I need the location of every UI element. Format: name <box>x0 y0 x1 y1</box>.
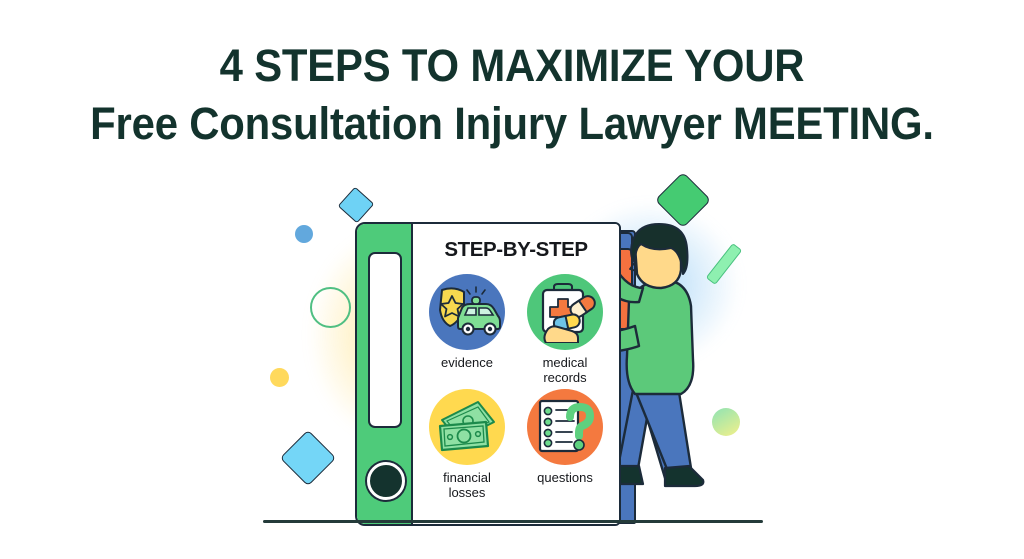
medical-records-label-line1: medical <box>543 355 588 370</box>
step-icon-grid: evidence <box>413 274 619 500</box>
page-title: 4 STEPS TO MAXIMIZE YOUR Free Consultati… <box>0 38 1024 154</box>
medical-records-label-line2: records <box>543 370 586 385</box>
banknotes-icon <box>434 400 500 454</box>
step-item-medical-records: medical records <box>517 274 613 385</box>
poster-canvas: 4 STEPS TO MAXIMIZE YOUR Free Consultati… <box>0 0 1024 559</box>
police-badge-and-car-icon <box>432 282 502 342</box>
financial-losses-icon-circle <box>429 389 505 465</box>
illustration: STEP-BY-STEP <box>255 170 775 540</box>
financial-losses-label: financial losses <box>443 470 491 500</box>
binder-page: STEP-BY-STEP <box>413 224 619 524</box>
step-item-financial-losses: financial losses <box>419 389 515 500</box>
blue-dot-icon <box>295 225 313 243</box>
step-item-questions: questions <box>517 389 613 500</box>
binder: STEP-BY-STEP <box>355 222 621 526</box>
medical-records-label: medical records <box>543 355 588 385</box>
step-by-step-title: STEP-BY-STEP <box>413 238 619 262</box>
green-ring-outline-icon <box>310 287 351 328</box>
medical-kit-and-pills-icon <box>532 281 598 343</box>
binder-finger-ring <box>367 462 405 500</box>
financial-losses-label-line2: losses <box>449 485 486 500</box>
headline-line-1: 4 STEPS TO MAXIMIZE YOUR <box>36 38 988 94</box>
questions-icon-circle <box>527 389 603 465</box>
ground-line <box>263 520 763 523</box>
yellow-dot-icon <box>270 368 289 387</box>
headline-line-2: Free Consultation Injury Lawyer MEETING. <box>36 94 988 154</box>
checklist-question-mark-icon <box>534 397 596 457</box>
binder-spine-label <box>368 252 402 428</box>
medical-records-icon-circle <box>527 274 603 350</box>
evidence-label: evidence <box>441 355 493 370</box>
evidence-icon-circle <box>429 274 505 350</box>
financial-losses-label-line1: financial <box>443 470 491 485</box>
questions-label: questions <box>537 470 593 485</box>
step-item-evidence: evidence <box>419 274 515 385</box>
binder-spine <box>357 224 413 524</box>
